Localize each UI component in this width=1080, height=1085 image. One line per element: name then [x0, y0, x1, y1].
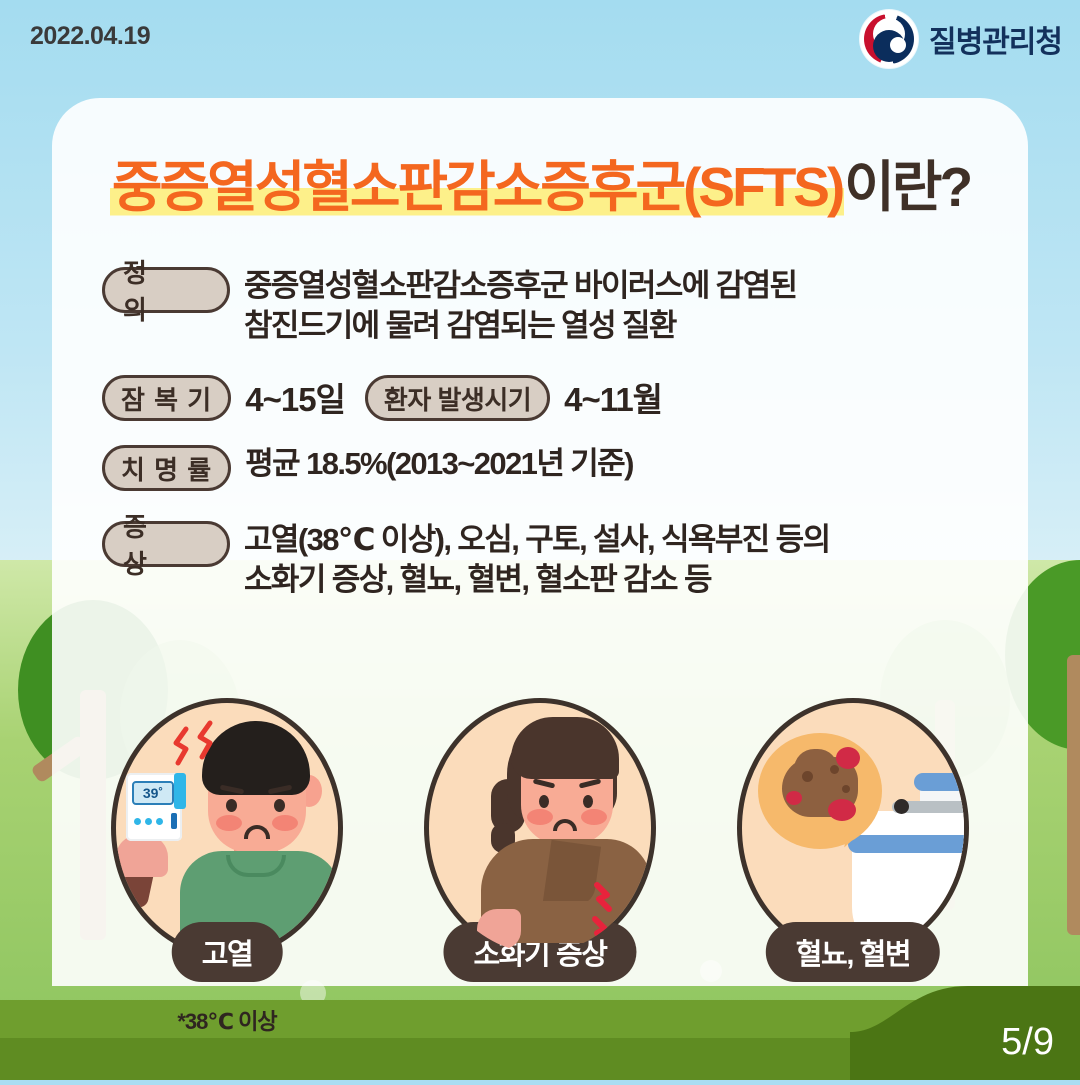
- title-highlight: 중증열성혈소판감소증후군(SFTS): [110, 156, 844, 218]
- info-row-definition: 정 의 중증열성혈소판감소증후군 바이러스에 감염된 참진드기에 물려 감염되는…: [102, 263, 998, 345]
- label-onset-period: 환자 발생시기: [365, 375, 550, 421]
- symptoms-line-2: 소화기 증상, 혈뇨, 혈변, 혈소판 감소 등: [244, 560, 830, 600]
- info-row-symptoms: 증 상 고열(38℃ 이상), 오심, 구토, 설사, 식욕부진 등의 소화기 …: [102, 517, 998, 599]
- label-incubation: 잠 복 기: [102, 375, 231, 421]
- heat-wave-icon: [168, 717, 238, 777]
- label-definition: 정 의: [102, 267, 230, 313]
- page-indicator: 5/9: [1001, 1021, 1054, 1064]
- figure-caption-fever: 고열: [172, 922, 283, 982]
- blood-spot: [836, 747, 860, 769]
- figure-bloody-stool: 혈뇨, 혈변: [728, 698, 978, 958]
- blood-spot: [786, 791, 802, 805]
- blood-spot: [828, 799, 856, 821]
- page-title: 중증열성혈소판감소증후군(SFTS)이란?: [52, 160, 1028, 215]
- definition-line-2: 참진드기에 물려 감염되는 열성 질환: [244, 306, 796, 346]
- label-symptoms: 증 상: [102, 521, 230, 567]
- publish-date: 2022.04.19: [30, 22, 150, 51]
- pain-mark-icon: [591, 881, 637, 956]
- figure-fever: 39˚ 고열 *38℃ 이상: [102, 698, 352, 958]
- kdca-logo: 질병관리청: [860, 10, 1062, 68]
- symptoms-text: 고열(38℃ 이상), 오심, 구토, 설사, 식욕부진 등의 소화기 증상, …: [244, 517, 830, 599]
- symptom-figures: 39˚ 고열 *38℃ 이상: [102, 698, 978, 958]
- digestive-illustration: [424, 698, 656, 958]
- info-row-fatality: 치 명 률 평균 18.5%(2013~2021년 기준): [102, 441, 998, 491]
- figure-digestive: 소화기 증상: [415, 698, 665, 958]
- header: 2022.04.19 질병관리청: [0, 0, 1080, 98]
- definition-text: 중증열성혈소판감소증후군 바이러스에 감염된 참진드기에 물려 감염되는 열성 …: [244, 263, 796, 345]
- definition-line-1: 중증열성혈소판감소증후군 바이러스에 감염된: [244, 266, 796, 306]
- info-list: 정 의 중증열성혈소판감소증후군 바이러스에 감염된 참진드기에 물려 감염되는…: [102, 263, 998, 626]
- symptoms-line-1: 고열(38℃ 이상), 오심, 구토, 설사, 식욕부진 등의: [244, 520, 830, 560]
- fatality-rate-value: 평균 18.5%(2013~2021년 기준): [245, 441, 633, 484]
- thermometer-reading: 39˚: [132, 781, 174, 805]
- incubation-value: 4~15일: [245, 371, 345, 421]
- org-name: 질병관리청: [929, 17, 1062, 61]
- taegeuk-icon: [860, 10, 918, 68]
- onset-period-value: 4~11월: [564, 371, 662, 421]
- info-row-incubation: 잠 복 기 4~15일 환자 발생시기 4~11월: [102, 371, 998, 421]
- content-card: 중증열성혈소판감소증후군(SFTS)이란? 정 의 중증열성혈소판감소증후군 바…: [52, 98, 1028, 986]
- hair-shape: [511, 717, 619, 779]
- title-tail: 이란?: [844, 156, 970, 218]
- label-fatality-rate: 치 명 률: [102, 445, 231, 491]
- bloody-stool-illustration: [737, 698, 969, 958]
- figure-footnote-fever: *38℃ 이상: [177, 1004, 276, 1036]
- fever-illustration: 39˚: [111, 698, 343, 958]
